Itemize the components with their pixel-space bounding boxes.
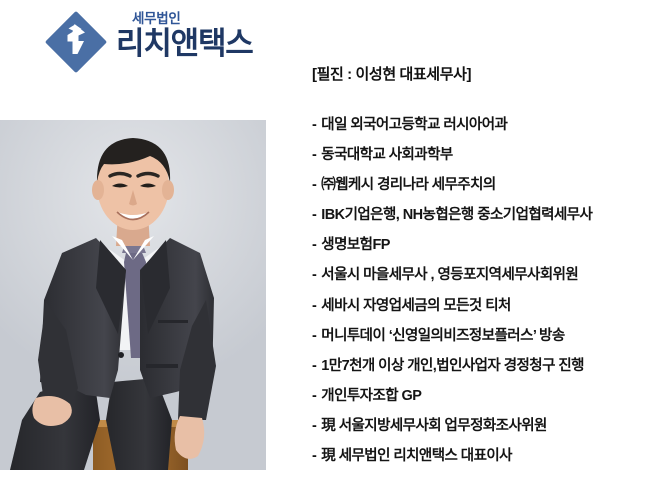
- profile-page: 세무법인 리치앤택스: [0, 0, 658, 470]
- list-item: - ㈜웹케시 경리나라 세무주치의: [312, 178, 652, 193]
- bullet-dash: -: [312, 118, 316, 133]
- brand-wordmark: 세무법인 리치앤택스: [116, 12, 286, 74]
- list-item-label: 생명보험FP: [321, 238, 390, 253]
- list-item-label: 세바시 자영업세금의 모든것 티처: [321, 299, 511, 314]
- list-item-label: 머니투데이 ‘신영일의비즈정보플러스’ 방송: [321, 329, 564, 344]
- list-item-label: 現 세무법인 리치앤택스 대표이사: [321, 449, 512, 464]
- bullet-dash: -: [312, 238, 316, 253]
- bullet-dash: -: [312, 208, 316, 223]
- list-item-label: ㈜웹케시 경리나라 세무주치의: [321, 178, 495, 193]
- bullet-dash: -: [312, 299, 316, 314]
- brand-main-text: 리치앤택스: [116, 28, 286, 61]
- chest-pocket: [158, 320, 188, 323]
- bio-block: [필진 : 이성현 대표세무사] - 대일 외국어고등학교 러시아어과 - 동국…: [312, 66, 652, 479]
- list-item-label: 現 서울지방세무사회 업무정화조사위원: [321, 419, 547, 434]
- list-item-label: 동국대학교 사회과학부: [321, 148, 452, 163]
- list-item: - 現 서울지방세무사회 업무정화조사위원: [312, 419, 652, 434]
- list-item-label: 1만7천개 이상 개인,법인사업자 경정청구 진행: [321, 359, 584, 374]
- bullet-dash: -: [312, 419, 316, 434]
- list-item: - 現 세무법인 리치앤택스 대표이사: [312, 449, 652, 464]
- richandtax-diamond-logo-icon: [44, 10, 108, 74]
- ear-left: [92, 180, 104, 200]
- list-item: - 서울시 마을세무사 , 영등포지역세무사회위원: [312, 268, 652, 283]
- bullet-dash: -: [312, 329, 316, 344]
- list-item-label: 서울시 마을세무사 , 영등포지역세무사회위원: [321, 268, 578, 283]
- hand-right: [175, 416, 205, 459]
- list-item: - 개인투자조합 GP: [312, 389, 652, 404]
- bio-list: - 대일 외국어고등학교 러시아어과 - 동국대학교 사회과학부 - ㈜웹케시 …: [312, 118, 652, 464]
- brand-sub-text: 세무법인: [132, 12, 286, 26]
- bullet-dash: -: [312, 359, 316, 374]
- bullet-dash: -: [312, 449, 316, 464]
- bullet-dash: -: [312, 389, 316, 404]
- bio-heading: [필진 : 이성현 대표세무사]: [312, 66, 652, 84]
- list-item-label: 개인투자조합 GP: [321, 389, 421, 404]
- list-item-label: 대일 외국어고등학교 러시아어과: [321, 118, 507, 133]
- list-item: - 1만7천개 이상 개인,법인사업자 경정청구 진행: [312, 359, 652, 374]
- bullet-dash: -: [312, 148, 316, 163]
- list-item: - 세바시 자영업세금의 모든것 티처: [312, 299, 652, 314]
- ear-right: [162, 180, 174, 200]
- list-item: - 대일 외국어고등학교 러시아어과: [312, 118, 652, 133]
- jacket-button: [118, 352, 124, 358]
- list-item-label: IBK기업은행, NH농협은행 중소기업협력세무사: [321, 208, 592, 223]
- list-item: - 머니투데이 ‘신영일의비즈정보플러스’ 방송: [312, 329, 652, 344]
- profile-photo: [0, 120, 266, 470]
- brand-logo: 세무법인 리치앤택스: [44, 6, 284, 80]
- bullet-dash: -: [312, 268, 316, 283]
- list-item: - 동국대학교 사회과학부: [312, 148, 652, 163]
- list-item: - IBK기업은행, NH농협은행 중소기업협력세무사: [312, 208, 652, 223]
- list-item: - 생명보험FP: [312, 238, 652, 253]
- bullet-dash: -: [312, 178, 316, 193]
- side-pocket: [146, 364, 178, 368]
